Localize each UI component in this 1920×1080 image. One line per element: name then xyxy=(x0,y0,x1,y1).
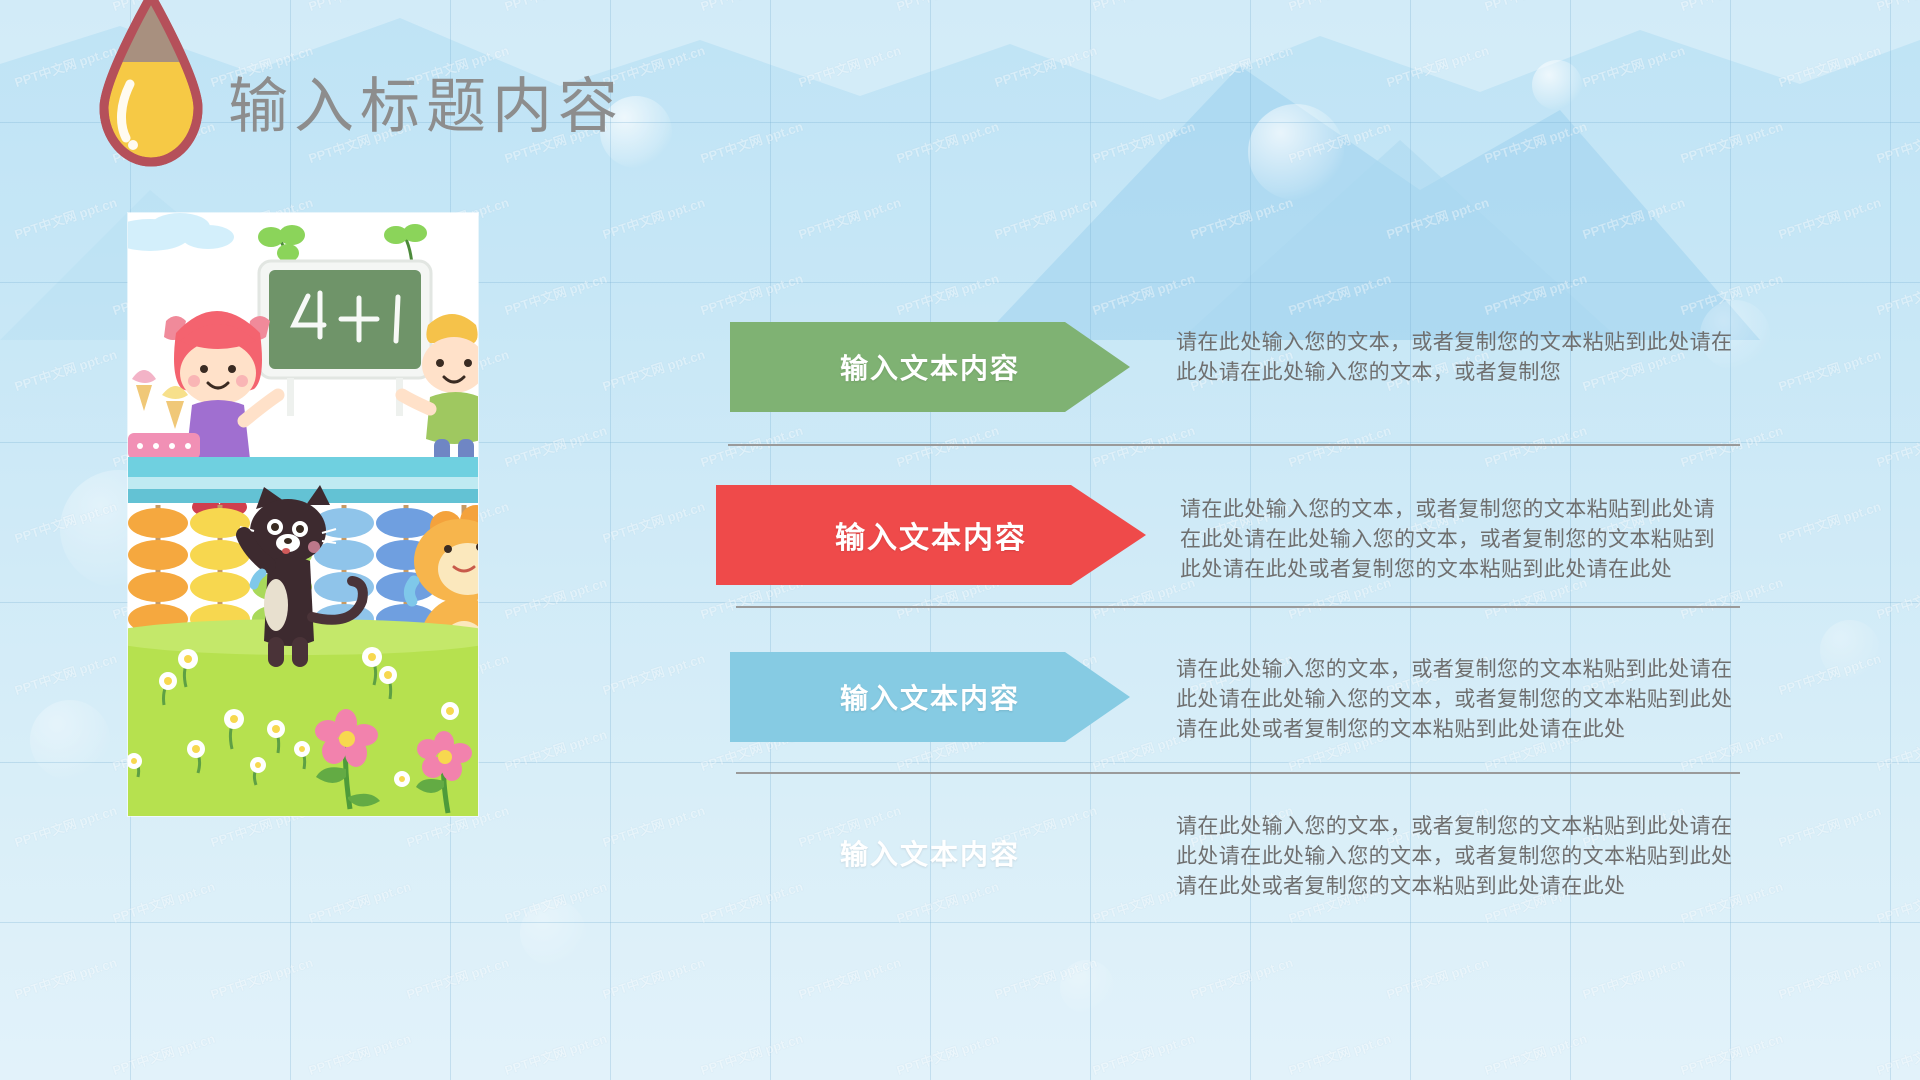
slide-canvas: PPT中文网 ppt.cnPPT中文网 ppt.cnPPT中文网 ppt.cnP… xyxy=(0,0,1920,1080)
row-4-arrow[interactable]: 输入文本内容 xyxy=(730,800,1130,906)
row-2-separator xyxy=(736,606,1740,608)
row-1-label: 输入文本内容 xyxy=(840,347,1020,387)
row-1-text: 请在此处输入您的文本，或者复制您的文本粘贴到此处请在此处请在此处输入您的文本，或… xyxy=(1176,328,1738,388)
row-1-arrow[interactable]: 输入文本内容 xyxy=(730,322,1130,412)
content-rows: 输入文本内容 请在此处输入您的文本，或者复制您的文本粘贴到此处请在此处请在此处输… xyxy=(0,0,1920,1080)
row-3-arrow[interactable]: 输入文本内容 xyxy=(730,652,1130,742)
row-2-arrow[interactable]: 输入文本内容 xyxy=(716,485,1146,585)
row-4-text: 请在此处输入您的文本，或者复制您的文本粘贴到此处请在此处请在此处输入您的文本，或… xyxy=(1176,812,1734,901)
row-3-separator xyxy=(736,772,1740,774)
row-3-text: 请在此处输入您的文本，或者复制您的文本粘贴到此处请在此处请在此处输入您的文本，或… xyxy=(1176,655,1734,744)
row-2-text: 请在此处输入您的文本，或者复制您的文本粘贴到此处请在此处请在此处输入您的文本，或… xyxy=(1180,495,1736,584)
row-2-label: 输入文本内容 xyxy=(835,513,1027,557)
row-4-label: 输入文本内容 xyxy=(840,833,1020,873)
row-3-label: 输入文本内容 xyxy=(840,677,1020,717)
row-1-separator xyxy=(728,444,1740,446)
